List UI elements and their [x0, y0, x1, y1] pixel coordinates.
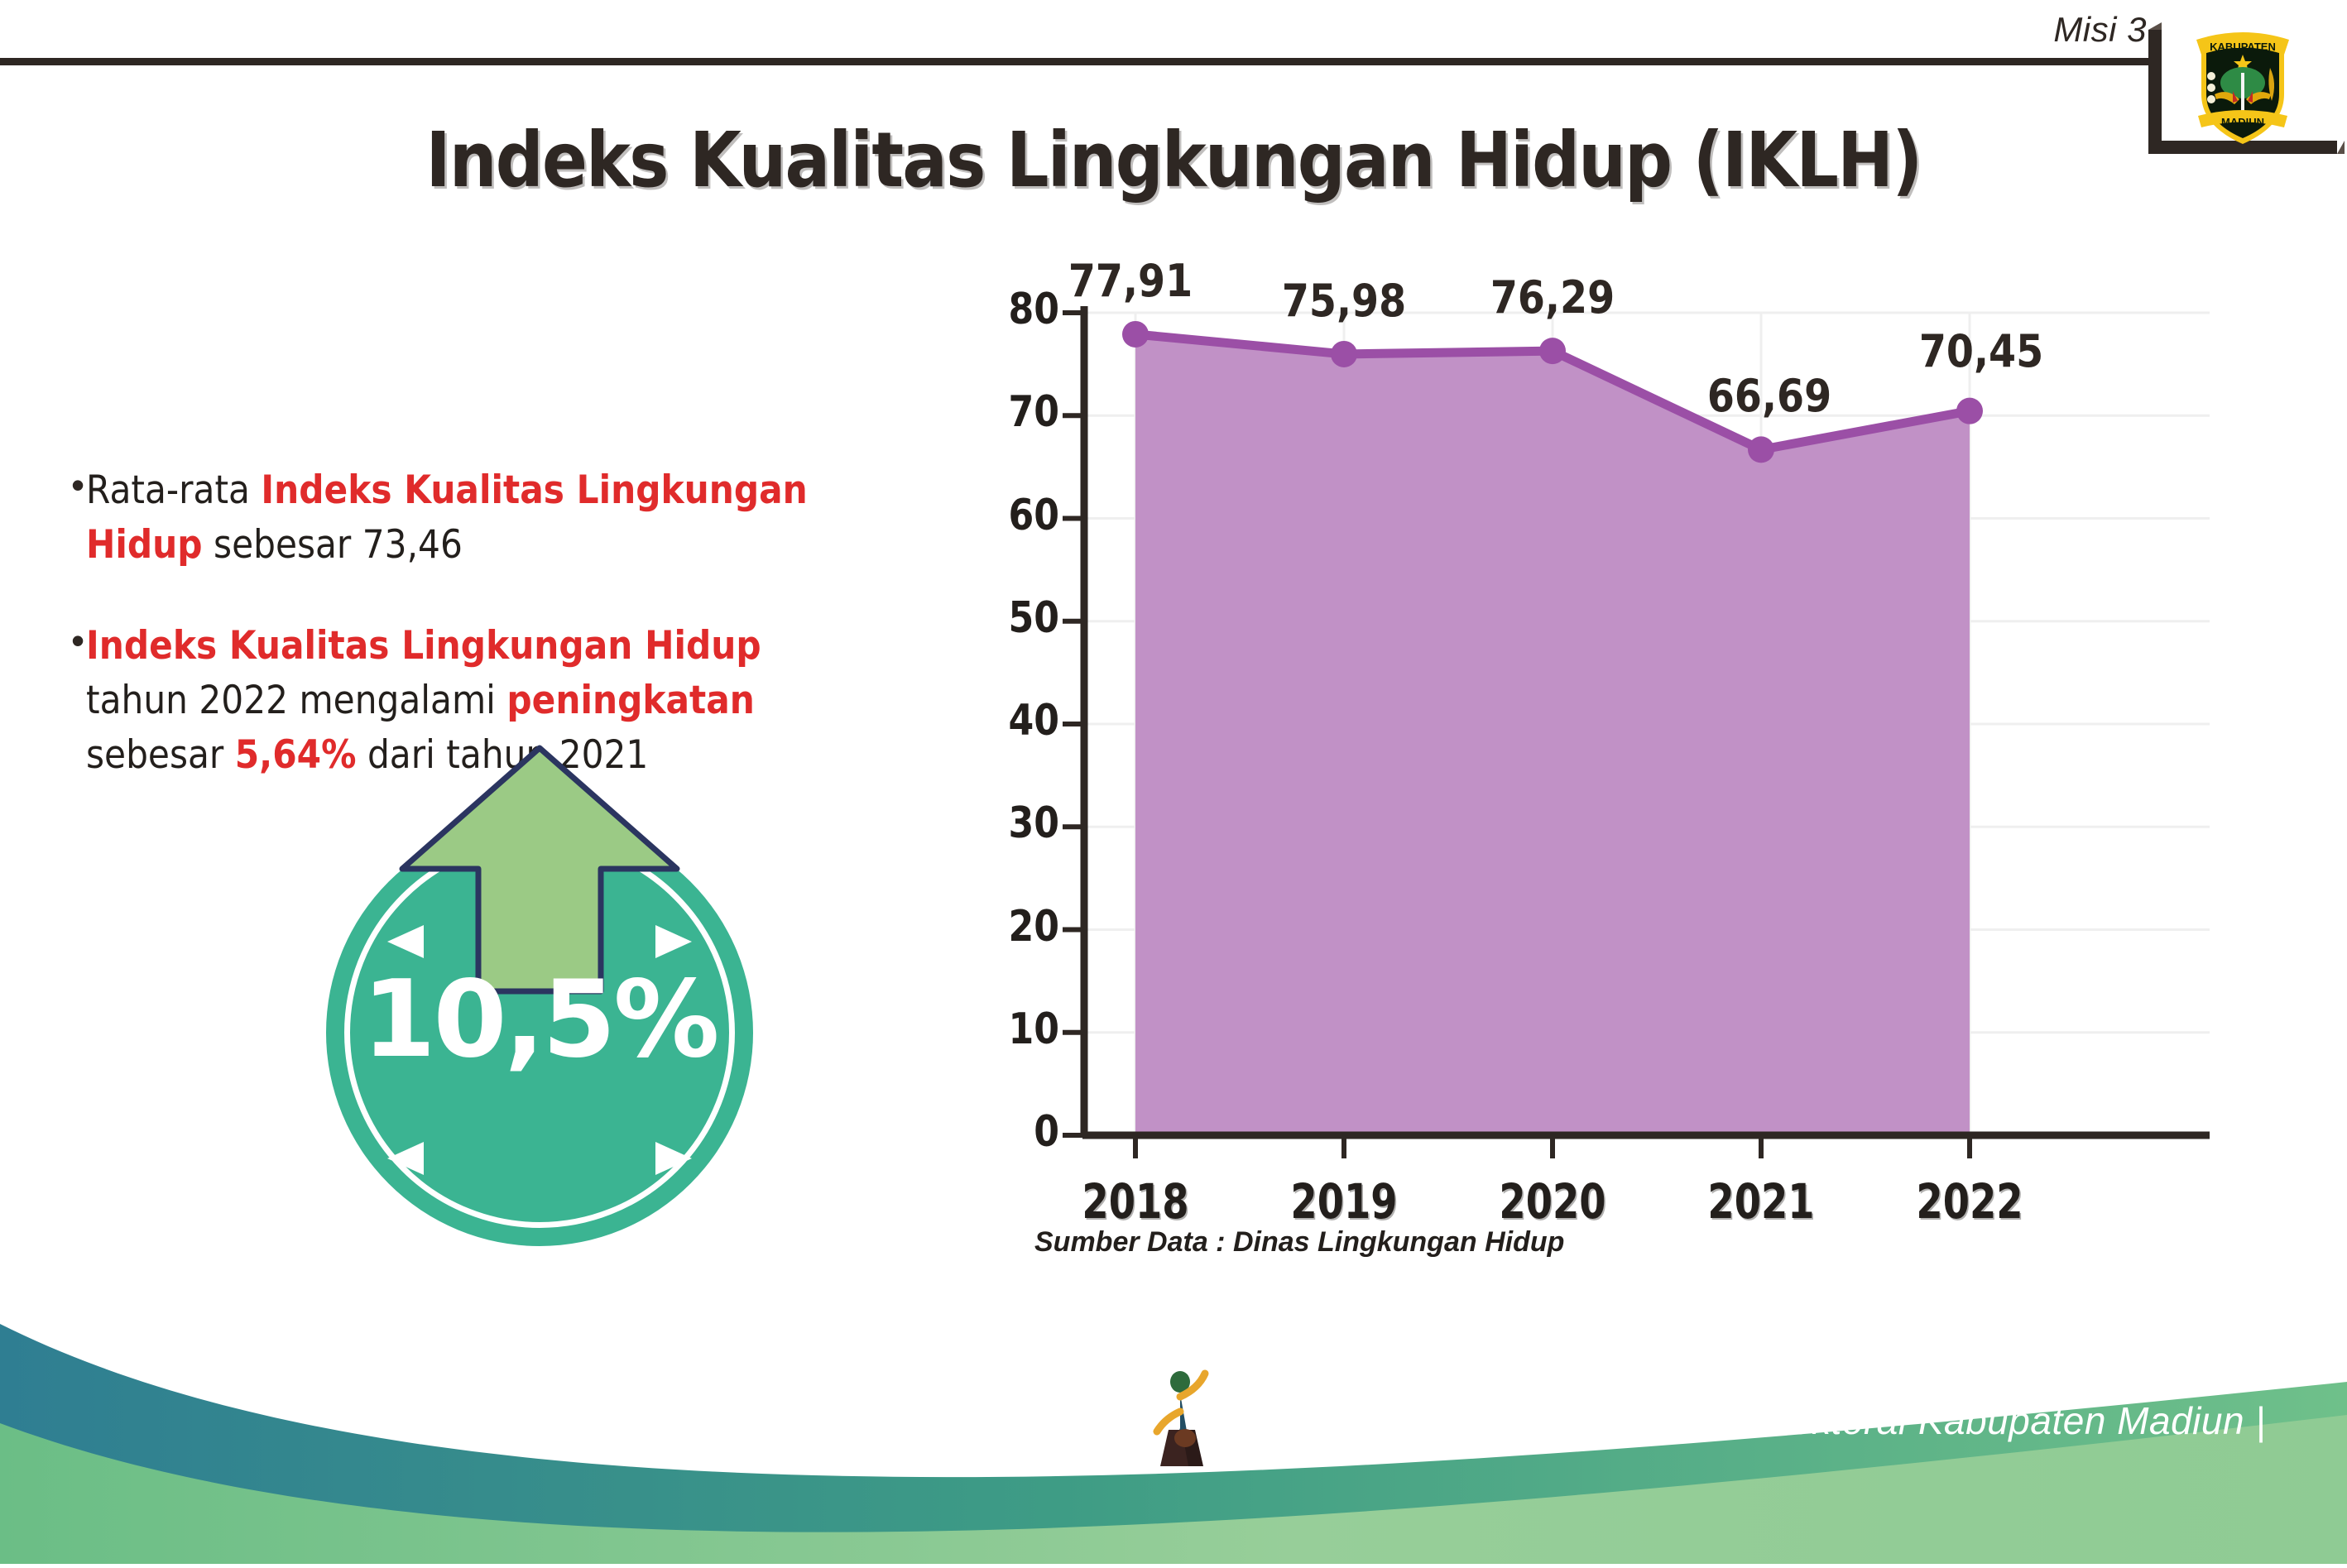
- bullet-marker: •: [71, 463, 84, 506]
- increase-badge: 10,5%: [326, 819, 753, 1246]
- y-axis-tick-label: 0: [975, 1107, 1059, 1157]
- iklh-area-chart: 01020304050607080 20182019202020212022 7…: [977, 298, 2218, 1175]
- text-run: 5,64%: [235, 732, 357, 778]
- text-run: sebesar: [86, 732, 235, 778]
- footer: Media Infografis Data Statistik Sektoral…: [0, 1291, 2347, 1564]
- footer-text: Media Infografis Data Statistik Sektoral…: [1235, 1398, 2266, 1443]
- page-title: Indeks Kualitas Lingkungan Hidup (IKLH): [141, 116, 2206, 204]
- badge-value: 10,5%: [326, 958, 753, 1081]
- y-axis-tick-label: 30: [975, 798, 1059, 848]
- text-run: Rata-rata: [86, 468, 261, 513]
- data-point-label: 75,98: [1250, 275, 1439, 327]
- chart-canvas: [977, 298, 2218, 1175]
- x-axis-tick-label: 2021: [1695, 1173, 1827, 1230]
- y-axis-tick-label: 20: [975, 902, 1059, 952]
- source-note: Sumber Data : Dinas Lingkungan Hidup: [1034, 1226, 1564, 1259]
- data-point-label: 77,91: [1036, 255, 1226, 307]
- text-run: Indeks Kualitas Lingkungan Hidup: [86, 623, 761, 669]
- x-axis-tick-label: 2018: [1069, 1173, 1202, 1230]
- data-point-label: 70,45: [1887, 325, 2076, 377]
- y-axis-tick-label: 70: [975, 387, 1059, 437]
- chart-series-area: [1135, 334, 1970, 1135]
- x-axis-tick-label: 2022: [1903, 1173, 2036, 1230]
- mission-label: Misi 3: [2053, 10, 2147, 50]
- statistics-figure-logo-icon: [1152, 1369, 1223, 1468]
- list-item: • Rata-rata Indeks Kualitas Lingkungan H…: [71, 463, 948, 573]
- x-axis-tick-label: 2019: [1278, 1173, 1410, 1230]
- y-axis-tick-label: 50: [975, 593, 1059, 643]
- x-axis-tick-label: 2020: [1486, 1173, 1619, 1230]
- bullet-marker: •: [71, 619, 84, 662]
- svg-text:MADIUN: MADIUN: [2221, 116, 2264, 128]
- data-point-label: 76,29: [1458, 271, 1648, 324]
- y-axis-tick-label: 60: [975, 491, 1059, 540]
- text-run: peningkatan: [506, 678, 755, 723]
- data-point-label: 66,69: [1675, 370, 1865, 422]
- y-axis-tick-label: 40: [975, 696, 1059, 746]
- text-run: tahun 2022 mengalami: [86, 678, 506, 723]
- y-axis-tick-label: 10: [975, 1005, 1059, 1054]
- header-divider: [0, 58, 2152, 65]
- svg-text:KABUPATEN: KABUPATEN: [2210, 41, 2276, 53]
- text-run: sebesar 73,46: [203, 522, 463, 568]
- bullet-text-0: Rata-rata Indeks Kualitas Lingkungan Hid…: [86, 463, 862, 573]
